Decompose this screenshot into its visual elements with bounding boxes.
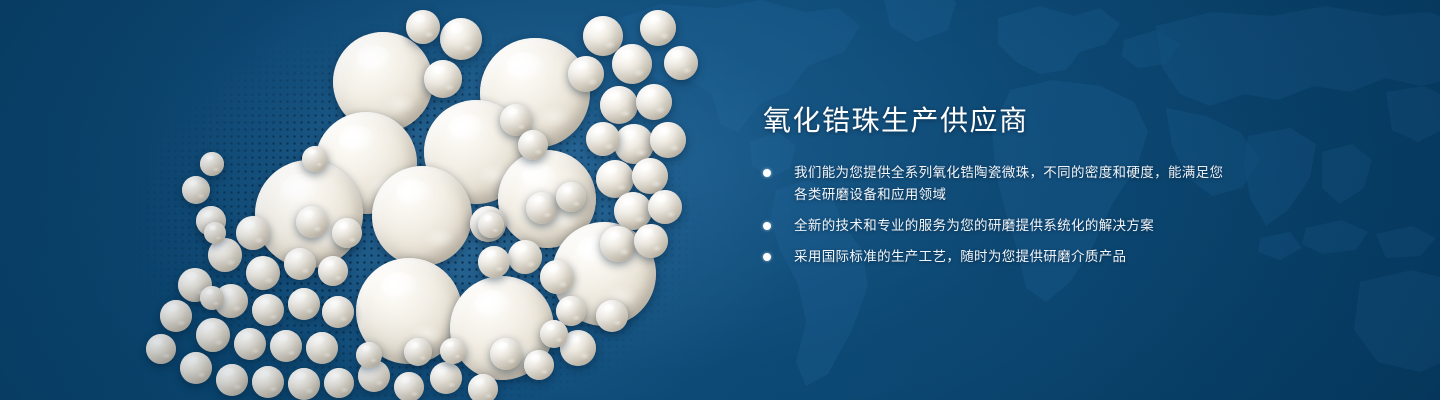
hero-banner: 氧化锆珠生产供应商 我们能为您提供全系列氧化锆陶瓷微珠，不同的密度和硬度，能满足… — [0, 0, 1440, 400]
bullet-dot-icon — [763, 169, 771, 177]
list-item: 我们能为您提供全系列氧化锆陶瓷微珠，不同的密度和硬度，能满足您各类研磨设备和应用… — [763, 162, 1233, 206]
list-item-text: 我们能为您提供全系列氧化锆陶瓷微珠，不同的密度和硬度，能满足您各类研磨设备和应用… — [794, 165, 1223, 202]
list-item: 采用国际标准的生产工艺，随时为您提供研磨介质产品 — [763, 246, 1233, 268]
bullet-dot-icon — [763, 222, 771, 230]
list-item-text: 全新的技术和专业的服务为您的研磨提供系统化的解决方案 — [794, 218, 1154, 233]
banner-copy: 氧化锆珠生产供应商 我们能为您提供全系列氧化锆陶瓷微珠，不同的密度和硬度，能满足… — [763, 104, 1233, 268]
halftone-texture — [60, 0, 740, 400]
benefit-list: 我们能为您提供全系列氧化锆陶瓷微珠，不同的密度和硬度，能满足您各类研磨设备和应用… — [763, 162, 1233, 268]
light-bloom — [150, 0, 790, 400]
list-item-text: 采用国际标准的生产工艺，随时为您提供研磨介质产品 — [794, 249, 1126, 264]
list-item: 全新的技术和专业的服务为您的研磨提供系统化的解决方案 — [763, 215, 1233, 237]
banner-headline: 氧化锆珠生产供应商 — [763, 104, 1233, 138]
zirconia-beads-image — [0, 0, 760, 400]
bullet-dot-icon — [763, 253, 771, 261]
